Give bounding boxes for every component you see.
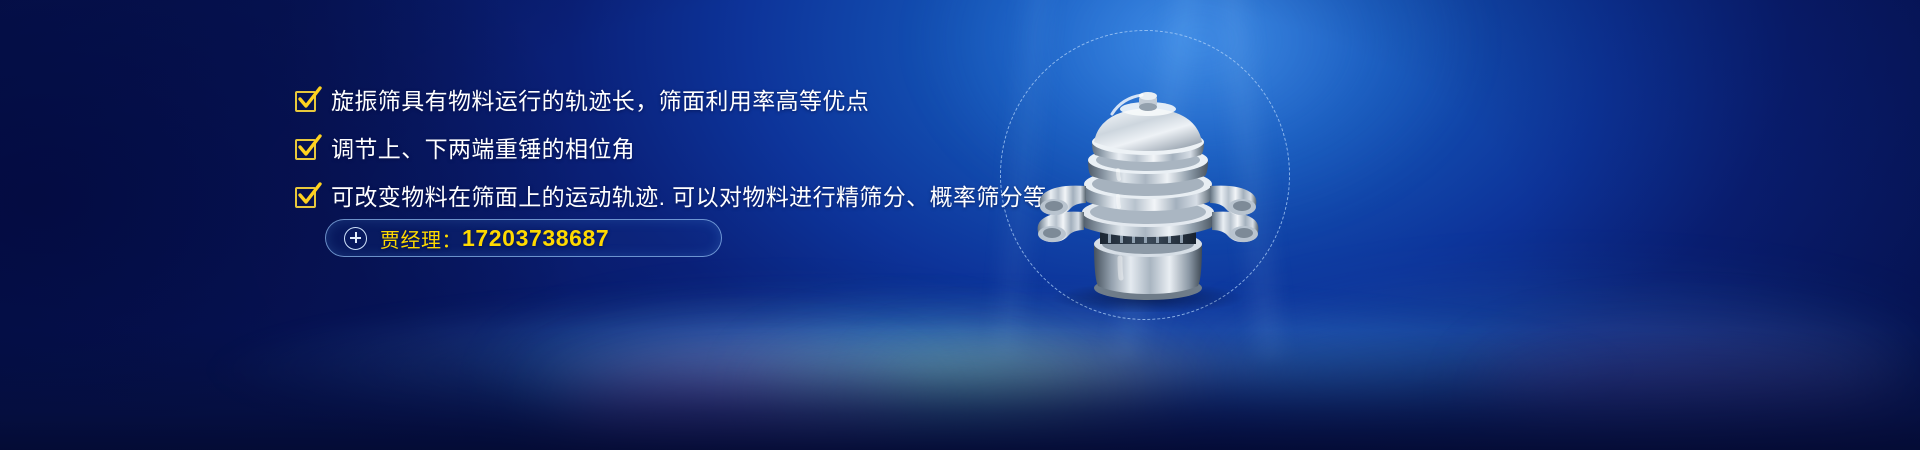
feature-text: 旋振筛具有物料运行的轨迹长，筛面利用率高等优点	[331, 86, 869, 117]
contact-person-label: 贾经理：	[380, 224, 462, 253]
promo-banner: 旋振筛具有物料运行的轨迹长，筛面利用率高等优点 调节上、下两端重锤的相位角 可改…	[0, 0, 1920, 450]
bottom-fade	[0, 330, 1920, 450]
feature-list: 旋振筛具有物料运行的轨迹长，筛面利用率高等优点 调节上、下两端重锤的相位角 可改…	[295, 86, 1035, 230]
feature-text: 可改变物料在筛面上的运动轨迹. 可以对物料进行精筛分、概率筛分等	[331, 182, 1047, 213]
checkbox-check-icon	[295, 139, 316, 160]
feature-item: 调节上、下两端重锤的相位角	[295, 134, 1035, 165]
checkbox-check-icon	[295, 187, 316, 208]
contact-phone-button[interactable]: 贾经理： 17203738687	[325, 219, 722, 257]
checkbox-check-icon	[295, 91, 316, 112]
feature-text: 调节上、下两端重锤的相位角	[331, 134, 635, 165]
feature-item: 旋振筛具有物料运行的轨迹长，筛面利用率高等优点	[295, 86, 1035, 117]
rotary-vibrating-screen-image	[1008, 62, 1288, 312]
plus-circle-icon	[344, 227, 367, 250]
feature-item: 可改变物料在筛面上的运动轨迹. 可以对物料进行精筛分、概率筛分等	[295, 182, 1035, 213]
product-figure	[1000, 30, 1300, 330]
contact-phone-number: 17203738687	[462, 225, 609, 252]
